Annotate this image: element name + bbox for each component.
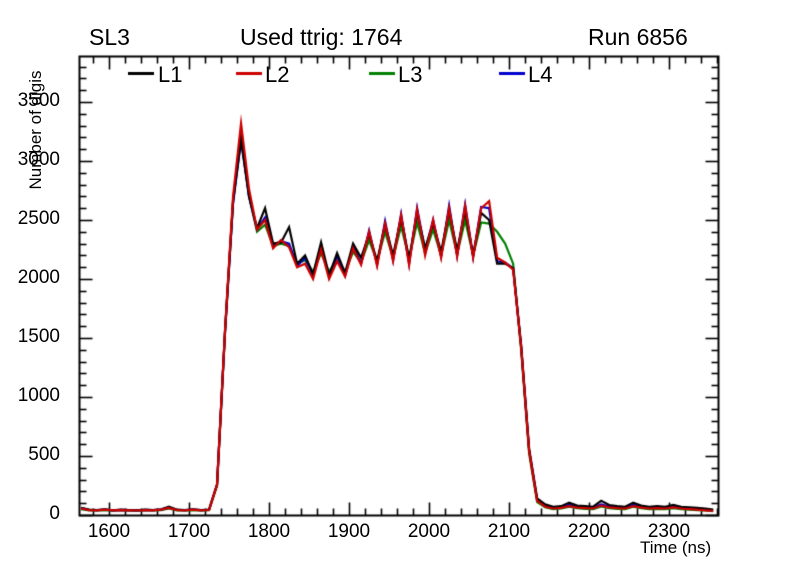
legend-item-l3: L3 <box>398 62 422 88</box>
y-tick-label: 1000 <box>0 385 60 407</box>
x-tick-label: 1900 <box>304 521 394 543</box>
x-tick-label: 2200 <box>544 521 634 543</box>
x-tick-label: 2300 <box>624 521 714 543</box>
y-tick-label: 1500 <box>0 326 60 348</box>
header-ttrig: Used ttrig: 1764 <box>240 24 402 51</box>
y-axis-label: Number of digis <box>26 50 46 210</box>
legend-item-l2: L2 <box>265 62 289 88</box>
legend-item-l1: L1 <box>158 62 182 88</box>
x-tick-label: 1600 <box>64 521 154 543</box>
y-tick-label: 2000 <box>0 267 60 289</box>
x-tick-label: 1800 <box>224 521 314 543</box>
y-tick-label: 3500 <box>0 90 60 112</box>
header-superlayer: SL3 <box>89 24 130 51</box>
y-tick-label: 2500 <box>0 208 60 230</box>
x-tick-label: 2100 <box>464 521 554 543</box>
x-tick-label: 2000 <box>384 521 474 543</box>
x-tick-label: 1700 <box>144 521 234 543</box>
legend-item-l4: L4 <box>528 62 552 88</box>
y-tick-label: 3000 <box>0 149 60 171</box>
y-tick-label: 500 <box>0 444 60 466</box>
y-tick-label: 0 <box>0 503 60 525</box>
header-run: Run 6856 <box>588 24 688 51</box>
